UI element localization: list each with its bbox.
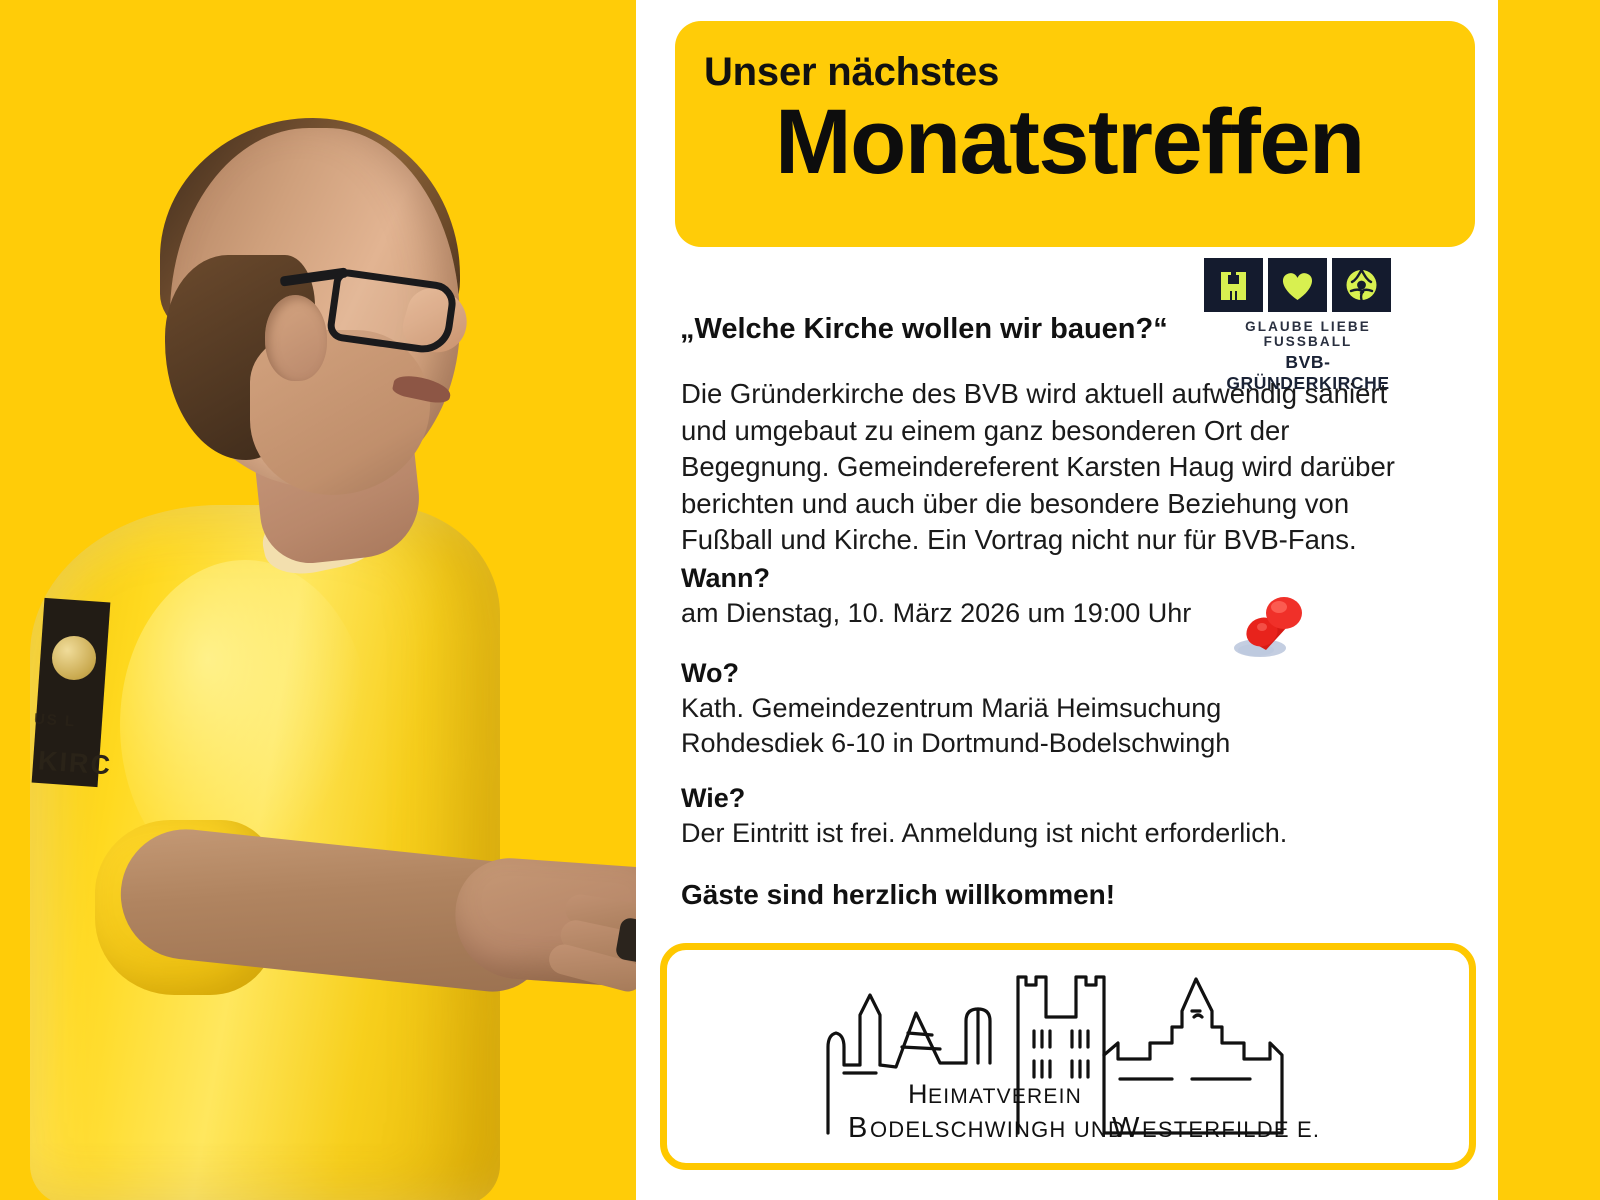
svg-text:H: H [908, 1079, 929, 1109]
pushpin-icon [1232, 580, 1322, 670]
banner-kicker: Unser nächstes [704, 50, 999, 95]
section-line: Kath. Gemeindezentrum Mariä Heimsuchung [681, 691, 1421, 726]
svg-text:W: W [1112, 1112, 1140, 1144]
bvb-gruenderkirche-logo: GLAUBE LIEBE FUSSBALL BVB-GRÜNDERKIRCHE [1204, 258, 1412, 394]
shirt-badge-tagline: US L [33, 711, 76, 731]
section-wie: Wie? Der Eintritt ist frei. Anmeldung is… [681, 783, 1421, 851]
heimatverein-logo: H EIMATVEREIN B ODELSCHWINGH UND W ESTER… [820, 955, 1320, 1145]
quote-heading: „Welche Kirche wollen wir bauen?“ [680, 313, 1168, 346]
speaker-photo-panel: US L KIRC [0, 0, 636, 1200]
page-title: Monatstreffen [775, 96, 1364, 188]
church-icon [1204, 258, 1263, 312]
svg-text:EIMATVEREIN: EIMATVEREIN [928, 1085, 1082, 1108]
body-paragraph: Die Gründerkirche des BVB wird aktuell a… [681, 376, 1421, 559]
football-icon [52, 636, 96, 680]
football-icon [1332, 258, 1391, 312]
speaker-portrait: US L KIRC [0, 0, 700, 1200]
shirt-badge-name: KIRC [37, 745, 113, 781]
bvb-logo-tagline: GLAUBE LIEBE FUSSBALL [1204, 319, 1412, 349]
welcome-note: Gäste sind herzlich willkommen! [681, 879, 1115, 911]
ear [265, 295, 327, 381]
poster-canvas: US L KIRC Unser nächstes Monatstreffen [0, 0, 1600, 1200]
section-line: Rohdesdiek 6-10 in Dortmund-Bodelschwing… [681, 726, 1421, 761]
section-wo: Wo? Kath. Gemeindezentrum Mariä Heimsuch… [681, 658, 1421, 761]
svg-text:ODELSCHWINGH UND: ODELSCHWINGH UND [870, 1117, 1125, 1142]
section-line: Der Eintritt ist frei. Anmeldung ist nic… [681, 816, 1421, 851]
svg-text:B: B [848, 1112, 868, 1144]
heart-icon [1268, 258, 1327, 312]
section-question: Wie? [681, 783, 1421, 814]
svg-text:ESTERFILDE E.V.: ESTERFILDE E.V. [1142, 1117, 1320, 1142]
bvb-logo-icons [1204, 258, 1412, 312]
right-yellow-strip [1498, 0, 1600, 1200]
